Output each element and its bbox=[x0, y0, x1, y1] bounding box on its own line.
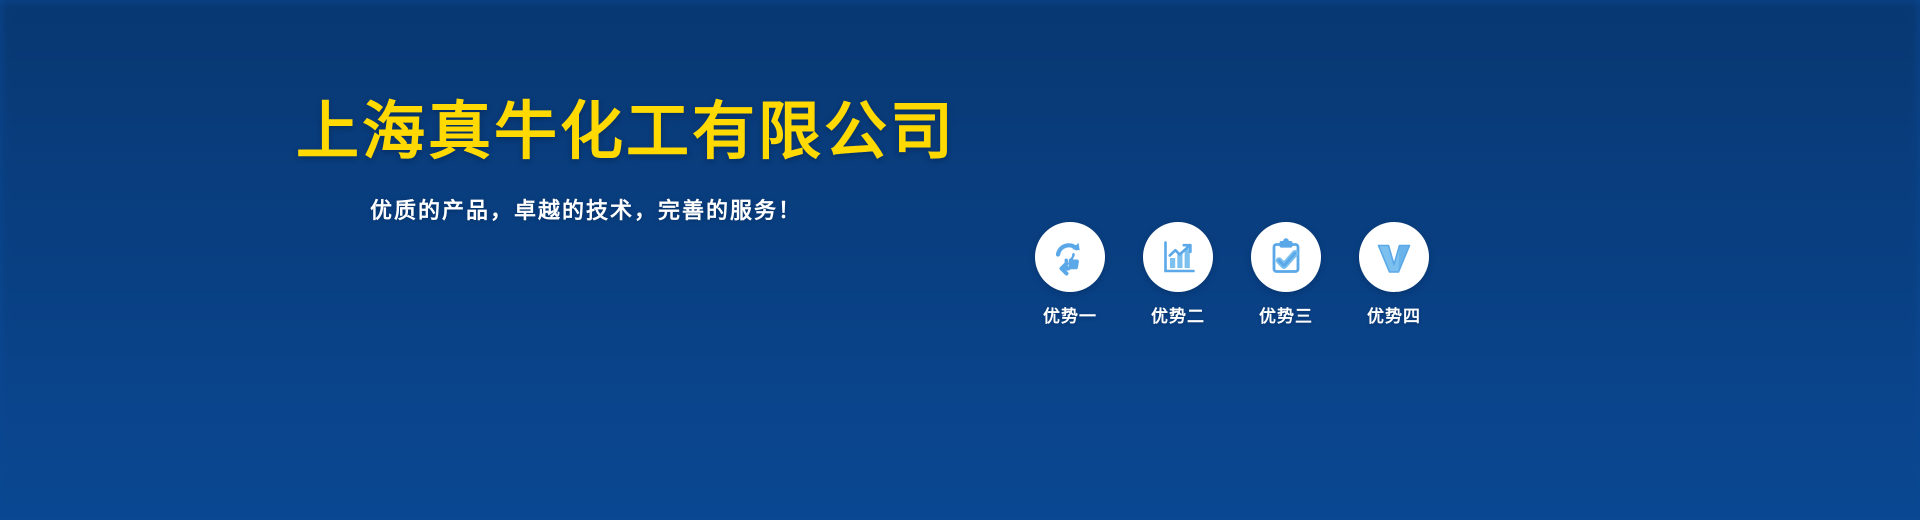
feature-icon-circle-3[interactable] bbox=[1251, 222, 1321, 292]
feature-icon-circle-4[interactable] bbox=[1359, 222, 1429, 292]
feature-item-3[interactable]: 优势三 bbox=[1251, 222, 1321, 328]
company-title: 上海真牛化工有限公司 bbox=[296, 96, 956, 168]
company-hero-banner: 上海真牛化工有限公司 优质的产品，卓越的技术，完善的服务！ 优势一 bbox=[0, 0, 1920, 520]
bar-chart-growth-icon bbox=[1157, 236, 1199, 278]
feature-label-2: 优势二 bbox=[1151, 306, 1205, 328]
feature-item-2[interactable]: 优势二 bbox=[1143, 222, 1213, 328]
feature-label-3: 优势三 bbox=[1259, 306, 1313, 328]
clipboard-check-icon bbox=[1265, 236, 1307, 278]
v-check-icon bbox=[1373, 236, 1415, 278]
feature-item-4[interactable]: 优势四 bbox=[1359, 222, 1429, 328]
feature-label-4: 优势四 bbox=[1367, 306, 1421, 328]
refresh-thumbs-up-icon bbox=[1049, 236, 1091, 278]
company-tagline: 优质的产品，卓越的技术，完善的服务！ bbox=[370, 196, 802, 226]
feature-icon-circle-2[interactable] bbox=[1143, 222, 1213, 292]
chevron-drop-shadow bbox=[0, 0, 1920, 520]
feature-item-1[interactable]: 优势一 bbox=[1035, 222, 1105, 328]
feature-badge-list: 优势一 优势二 bbox=[1035, 222, 1429, 328]
feature-icon-circle-1[interactable] bbox=[1035, 222, 1105, 292]
feature-label-1: 优势一 bbox=[1043, 306, 1097, 328]
